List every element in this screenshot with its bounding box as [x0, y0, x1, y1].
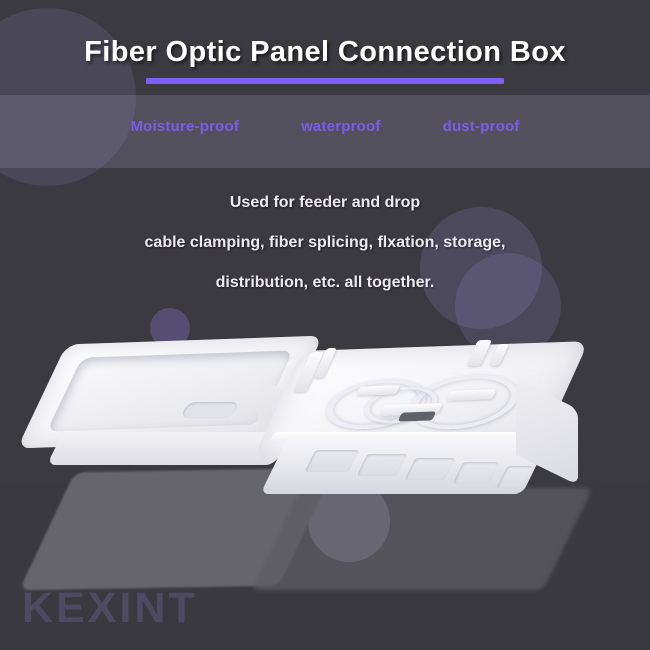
title-underline — [146, 78, 504, 84]
tray-rib — [356, 385, 401, 395]
tray-cable-slot — [398, 411, 437, 421]
header-section: Fiber Optic Panel Connection Box — [0, 0, 650, 84]
feature-waterproof: waterproof — [301, 118, 381, 135]
feature-dust-proof: dust-proof — [443, 118, 520, 135]
feature-moisture-proof: Moisture-proof — [130, 118, 239, 135]
brand-watermark: KEXINT — [22, 584, 198, 633]
description-line-2: cable clamping, fiber splicing, flxation… — [0, 223, 650, 263]
feature-list: Moisture-proof waterproof dust-proof — [0, 118, 650, 135]
tray-rib — [445, 389, 496, 401]
fiber-box-body — [262, 346, 592, 516]
description-line-3: distribution, etc. all together. — [0, 263, 650, 303]
page-title: Fiber Optic Panel Connection Box — [0, 36, 650, 69]
description-block: Used for feeder and drop cable clamping,… — [0, 183, 650, 303]
description-line-1: Used for feeder and drop — [0, 183, 650, 223]
lid-front-face — [47, 432, 292, 465]
lid-inner-well — [47, 350, 294, 431]
